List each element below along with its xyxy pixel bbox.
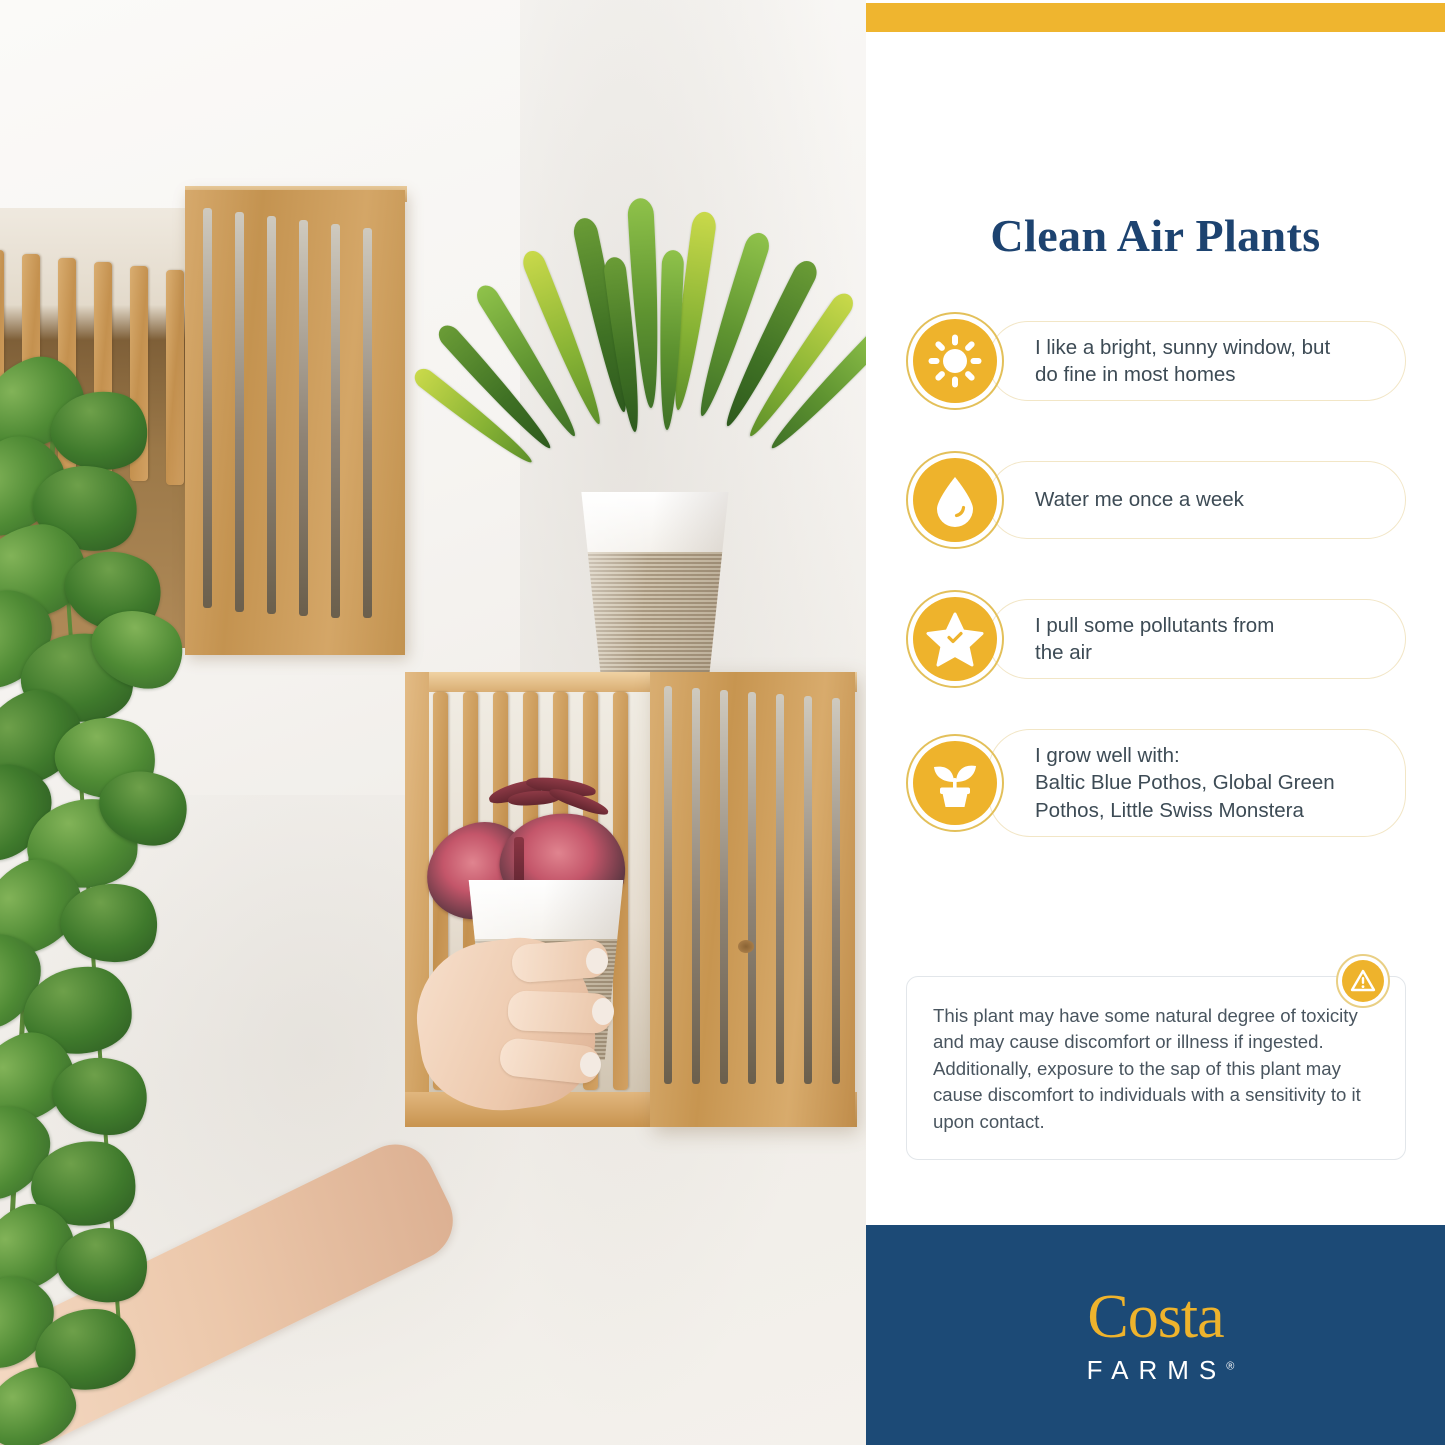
care-text-light: I like a bright, sunny window, but do fi… [988,321,1406,402]
fingernail-middle [592,998,614,1025]
logo-wordmark-costa: Costa [866,1288,1445,1347]
gold-accent-bar [866,3,1445,32]
care-water-line1: Water me once a week [1035,488,1244,511]
icon-disc [1342,960,1384,1002]
striped-pot-upper [575,492,735,674]
water-drop-icon [906,451,1004,549]
fingernail-index [586,948,608,974]
star-check-icon [906,590,1004,688]
care-pollutants-line1: I pull some pollutants from [1035,614,1274,637]
toxicity-warning-box: This plant may have some natural degree … [906,976,1406,1160]
care-row-pollutants: I pull some pollutants from the air [906,590,1406,688]
icon-disc [913,319,997,403]
care-companions-line2: Baltic Blue Pothos, Global Green [1035,771,1335,794]
lifestyle-photo [0,0,866,1445]
logo-wordmark-farms: FARMS® [866,1355,1445,1386]
warning-triangle-icon [1336,954,1390,1008]
product-infographic: Clean Air Plants [0,0,1445,1445]
care-light-line1: I like a bright, sunny window, but [1035,336,1330,359]
page-title: Clean Air Plants [866,209,1445,262]
care-row-light: I like a bright, sunny window, but do fi… [906,312,1406,410]
care-row-water: Water me once a week [906,451,1406,549]
toxicity-warning-text: This plant may have some natural degree … [933,1003,1379,1135]
care-companions-line3: Pothos, Little Swiss Monstera [1035,799,1304,822]
icon-disc [913,458,997,542]
crate-front-panel-lower [650,672,855,1127]
care-light-line2: do fine in most homes [1035,363,1236,386]
pothos-vine [0,250,300,1410]
icon-disc [913,597,997,681]
care-text-pollutants: I pull some pollutants from the air [988,599,1406,680]
care-info-list: I like a bright, sunny window, but do fi… [906,312,1406,878]
costa-farms-logo: Costa FARMS® [866,1288,1445,1386]
care-row-companions: I grow well with: Baltic Blue Pothos, Gl… [906,729,1406,837]
fingernail-ring [580,1052,601,1077]
logo-trademark: ® [1226,1360,1234,1372]
care-companions-line1: I grow well with: [1035,744,1180,767]
care-pollutants-line2: the air [1035,641,1092,664]
potted-plant-icon [906,734,1004,832]
care-text-companions: I grow well with: Baltic Blue Pothos, Gl… [988,729,1406,837]
sun-icon [906,312,1004,410]
care-text-water: Water me once a week [988,461,1406,539]
logo-farms-text: FARMS [1087,1355,1227,1385]
croton-plant [470,190,830,530]
icon-disc [913,741,997,825]
